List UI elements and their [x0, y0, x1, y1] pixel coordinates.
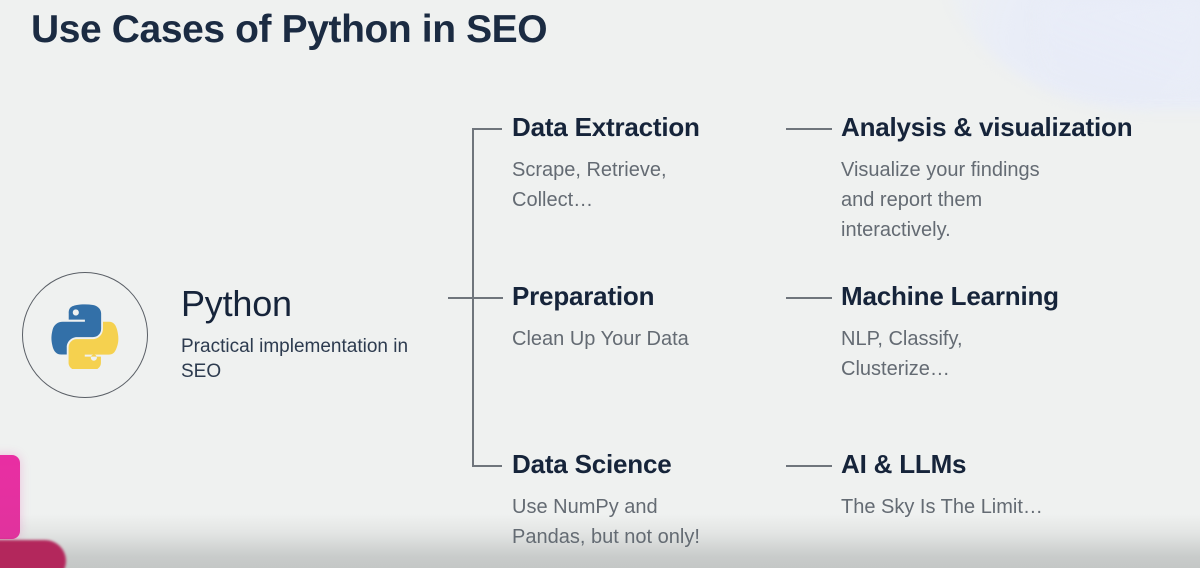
branch-item-ai-llms[interactable]: AI & LLMs The Sky Is The Limit… [841, 451, 1043, 522]
branch-body: Visualize your findings and report them … [841, 155, 1132, 245]
branch-item-preparation[interactable]: Preparation Clean Up Your Data [512, 283, 689, 354]
python-root-node: Python Practical implementation in SEO [22, 272, 441, 398]
branch-heading: Data Science [512, 451, 700, 478]
python-root-title: Python [181, 285, 441, 323]
python-logo-icon [51, 301, 119, 369]
branch-item-data-extraction[interactable]: Data Extraction Scrape, Retrieve, Collec… [512, 114, 700, 215]
branch-item-machine-learning[interactable]: Machine Learning NLP, Classify, Clusteri… [841, 283, 1059, 384]
branch-body: NLP, Classify, Clusterize… [841, 324, 1059, 384]
branch-item-analysis-visualization[interactable]: Analysis & visualization Visualize your … [841, 114, 1132, 245]
branch-item-data-science[interactable]: Data Science Use NumPy and Pandas, but n… [512, 451, 700, 552]
connector-dash-right-row-3 [786, 465, 832, 467]
connector-dash-right-row-2 [786, 297, 832, 299]
python-root-text: Python Practical implementation in SEO [181, 285, 441, 385]
branch-heading: Analysis & visualization [841, 114, 1132, 141]
decorative-pink-tab [0, 455, 20, 539]
connector-stub-bottom [472, 465, 502, 467]
branch-body: Scrape, Retrieve, Collect… [512, 155, 700, 215]
connector-stub-middle [448, 297, 503, 299]
decorative-blob-top-right-accent [1040, 0, 1200, 92]
branch-heading: AI & LLMs [841, 451, 1043, 478]
connector-dash-right-row-1 [786, 128, 832, 130]
branch-heading: Machine Learning [841, 283, 1059, 310]
decorative-crimson-blob [0, 540, 66, 568]
branch-heading: Preparation [512, 283, 689, 310]
decorative-blob-top-right [940, 0, 1200, 110]
connector-stub-top [472, 128, 502, 130]
branch-body: The Sky Is The Limit… [841, 492, 1043, 522]
connector-trunk-vertical [472, 128, 474, 466]
page-title: Use Cases of Python in SEO [31, 8, 547, 52]
branch-body: Clean Up Your Data [512, 324, 689, 354]
python-root-subtitle: Practical implementation in SEO [181, 334, 441, 386]
branch-heading: Data Extraction [512, 114, 700, 141]
branch-body: Use NumPy and Pandas, but not only! [512, 492, 700, 552]
slide-canvas: Use Cases of Python in SEO Python Practi… [0, 0, 1200, 568]
python-logo-circle [22, 272, 148, 398]
